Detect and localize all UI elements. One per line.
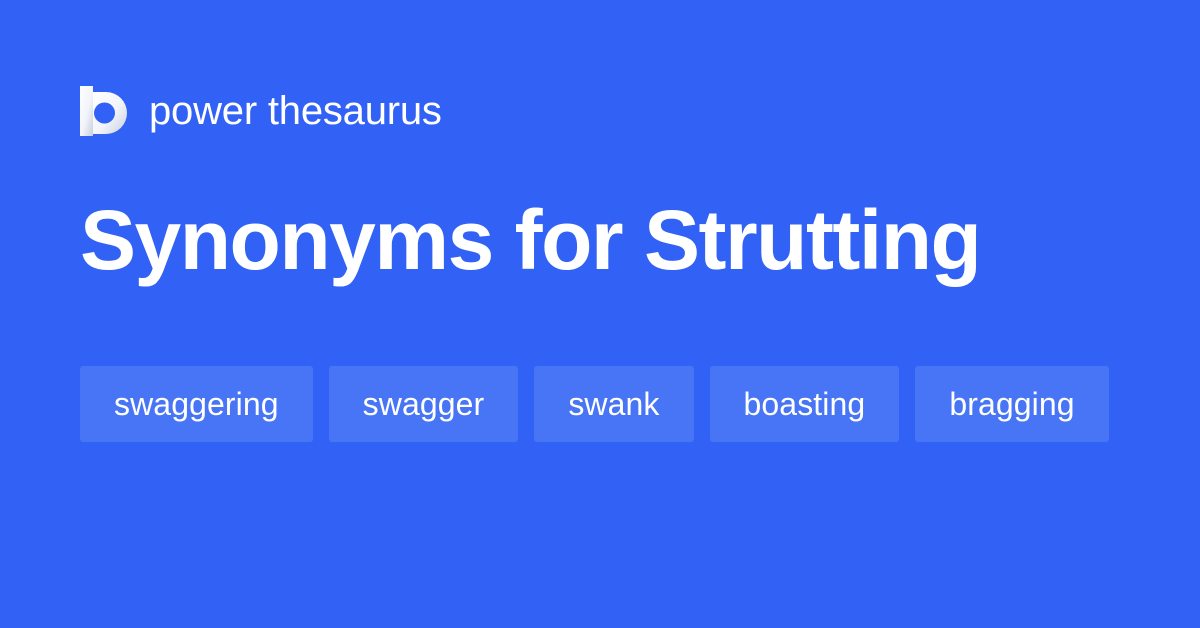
synonym-chip[interactable]: swaggering bbox=[80, 366, 313, 442]
page-title: Synonyms for Strutting bbox=[80, 198, 1120, 282]
synonym-chip[interactable]: boasting bbox=[710, 366, 900, 442]
synonyms-share-card: power thesaurus Synonyms for Strutting s… bbox=[0, 0, 1200, 628]
synonym-chip-list: swaggering swagger swank boasting braggi… bbox=[80, 366, 1140, 442]
synonym-chip[interactable]: swagger bbox=[329, 366, 519, 442]
brand-lockup[interactable]: power thesaurus bbox=[80, 82, 442, 140]
brand-name: power thesaurus bbox=[149, 91, 442, 131]
synonym-chip[interactable]: swank bbox=[534, 366, 693, 442]
power-thesaurus-b-logo-icon bbox=[80, 86, 127, 136]
synonym-chip[interactable]: bragging bbox=[915, 366, 1108, 442]
